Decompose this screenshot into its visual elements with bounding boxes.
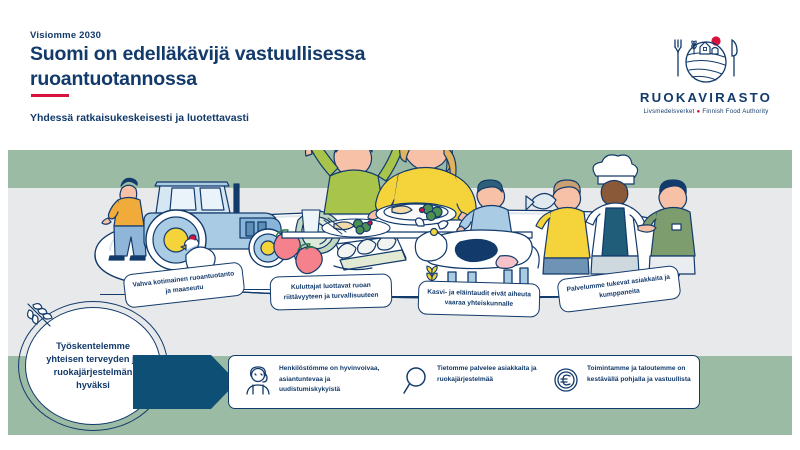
- value-item-economy-text: Toimintamme ja taloutemme on kestävällä …: [587, 364, 699, 385]
- wheat-ear-icon: [24, 300, 58, 332]
- logo-wordmark: RUOKAVIRASTO: [636, 90, 776, 105]
- logo-subtitle-english: Finnish Food Authority: [702, 108, 768, 115]
- euro-coin-icon: [551, 365, 581, 395]
- header: Visiomme 2030 Suomi on edelläkävijä vast…: [0, 0, 800, 150]
- value-item-personnel[interactable]: Henkilöstömme on hyvinvoivaa, asiantunte…: [243, 364, 395, 402]
- logo-subtitle: Livsmedelsverket ● Finnish Food Authorit…: [636, 108, 776, 115]
- magnifying-glass-icon: [401, 365, 431, 395]
- process-arrow: [133, 355, 237, 409]
- value-item-knowledge-text: Tietomme palvelee asiakkaita ja ruokajär…: [437, 364, 549, 385]
- connector-circle-1: [100, 294, 126, 295]
- logo: RUOKAVIRASTO Livsmedelsverket ● Finnish …: [636, 32, 776, 127]
- value-item-knowledge[interactable]: Tietomme palvelee asiakkaita ja ruokajär…: [401, 364, 553, 402]
- page-title: Suomi on edelläkävijä vastuullisessa ruo…: [30, 42, 450, 92]
- value-item-economy[interactable]: Toimintamme ja taloutemme on kestävällä …: [551, 364, 703, 402]
- logo-subtitle-separator: ●: [697, 108, 701, 115]
- infographic-root: Visiomme 2030 Suomi on edelläkävijä vast…: [0, 0, 800, 450]
- callout-plant-animal-diseases[interactable]: Kasvi- ja eläintaudit eivät aiheuta vaar…: [418, 280, 541, 317]
- milk-glass: [302, 210, 320, 232]
- value-item-personnel-text: Henkilöstömme on hyvinvoivaa, asiantunte…: [279, 364, 391, 396]
- bottom-values-card: Henkilöstömme on hyvinvoivaa, asiantunte…: [228, 355, 700, 409]
- connector-1-2: [243, 289, 273, 290]
- person-with-headset-icon: [243, 365, 273, 395]
- page-subtitle: Yhdessä ratkaisukeskeisesti ja luotettav…: [30, 112, 249, 124]
- title-underline-rule: [31, 94, 69, 97]
- connector-2-3: [390, 296, 420, 297]
- callout-consumer-trust[interactable]: Kuluttajat luottavat ruoan riittävyyteen…: [270, 273, 393, 310]
- farm-landscape-with-fork-and-knife-logo-icon: [666, 32, 744, 88]
- logo-subtitle-swedish: Livsmedelsverket: [643, 108, 694, 115]
- kicker-label: Visiomme 2030: [30, 30, 101, 41]
- chef-figure: [586, 155, 645, 274]
